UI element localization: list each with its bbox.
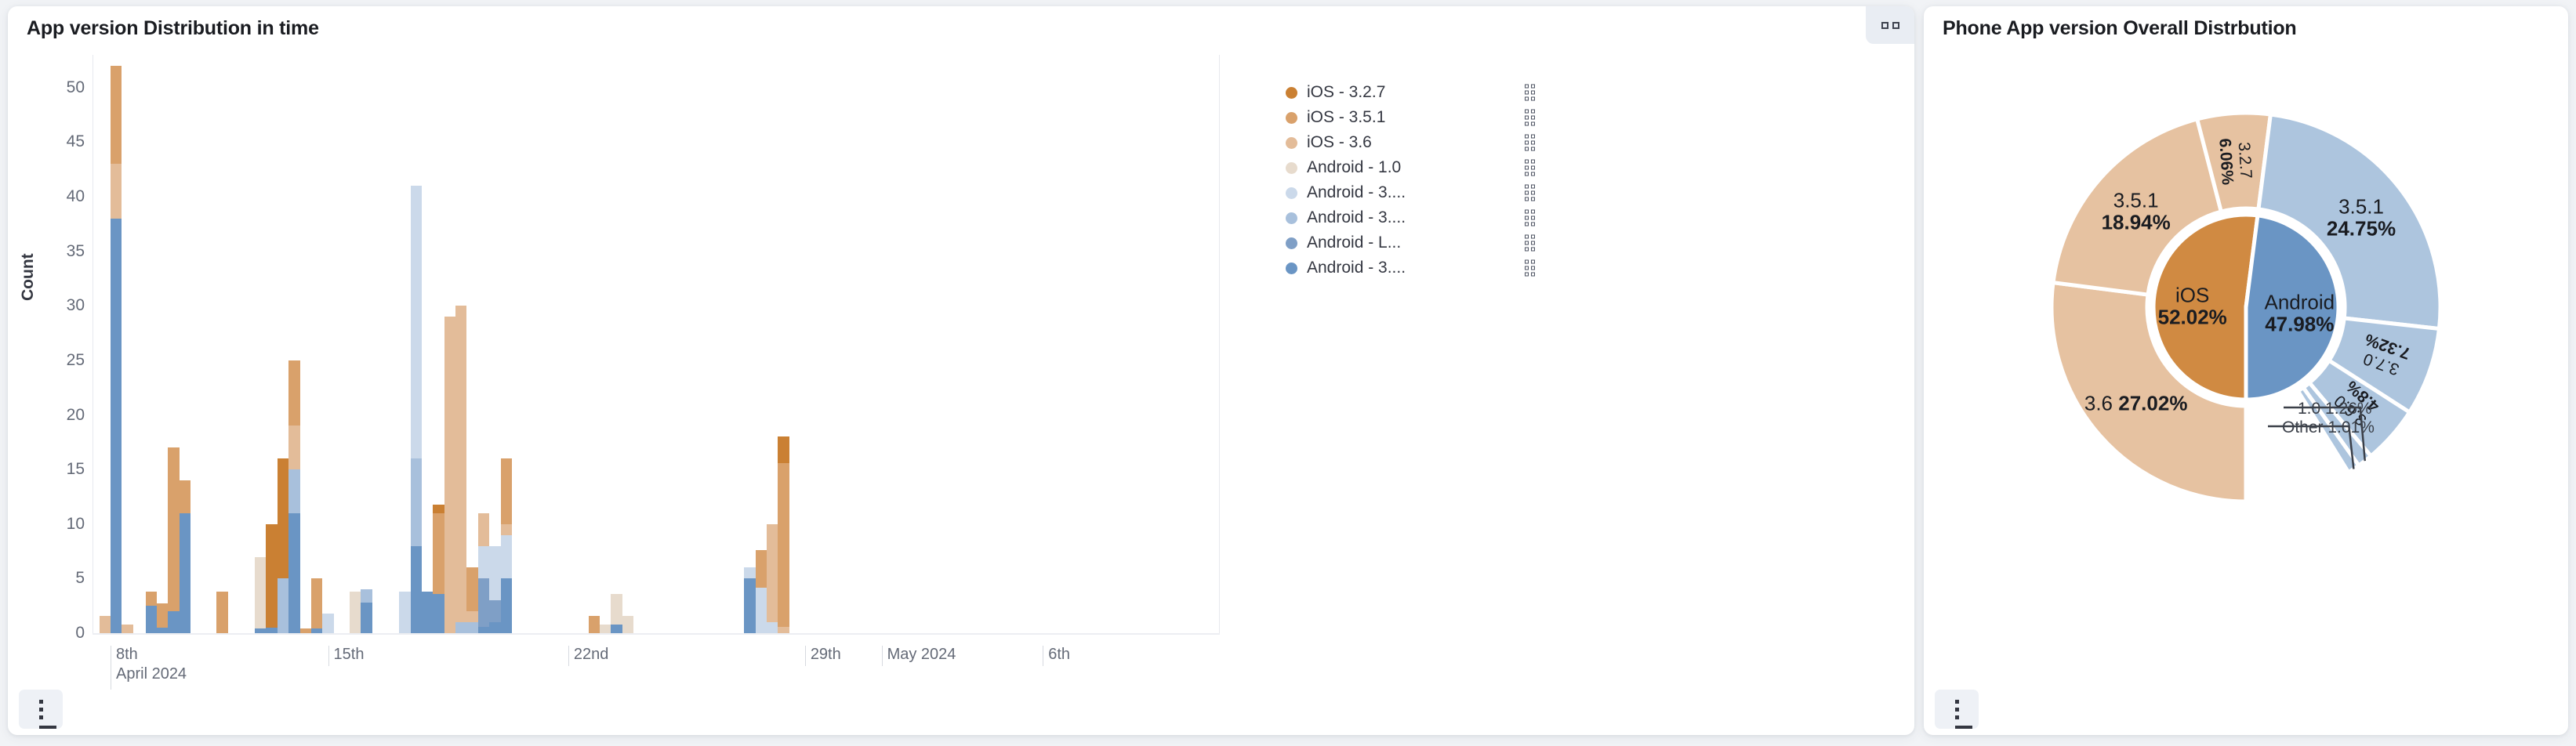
- legend-color-dot: [1286, 237, 1297, 249]
- x-tick-sub: April 2024: [116, 665, 187, 683]
- legend-item-label: Android - 3....: [1307, 183, 1406, 202]
- y-axis-tick-label: 50: [67, 78, 85, 97]
- bar-stack[interactable]: [756, 550, 767, 633]
- bar-stack[interactable]: [501, 458, 512, 633]
- bar-stack[interactable]: [216, 592, 227, 633]
- y-axis-tick-label: 15: [67, 460, 85, 479]
- bar-stack[interactable]: [157, 603, 168, 633]
- panel-overall-distribution: Phone App version Overall Distrbution iO…: [1924, 6, 2568, 735]
- bar-stack[interactable]: [180, 480, 190, 633]
- bar-series-container: [93, 55, 1220, 633]
- callout-label: 1.0 1.26%: [2298, 400, 2372, 418]
- bar-segment[interactable]: [411, 458, 422, 545]
- legend-color-dot: [1286, 112, 1297, 124]
- bar-segment[interactable]: [255, 628, 266, 633]
- bar-segment[interactable]: [422, 592, 433, 633]
- donut-slice-value: 18.94%: [2102, 210, 2171, 234]
- bar-stack[interactable]: [767, 524, 778, 633]
- legend-item[interactable]: Android - 3....: [1286, 205, 1474, 230]
- sunburst-rings: iOS52.02%Android47.98%3.6 27.02%3.5.118.…: [2052, 113, 2440, 502]
- bar-stack[interactable]: [255, 557, 266, 633]
- y-axis-tick-label: 30: [67, 296, 85, 315]
- bar-segment[interactable]: [756, 550, 767, 587]
- bar-segment[interactable]: [111, 164, 122, 219]
- bar-segment[interactable]: [501, 578, 512, 633]
- bar-segment[interactable]: [744, 578, 755, 633]
- bar-segment[interactable]: [433, 513, 444, 594]
- x-axis-tick-label: 22nd: [568, 646, 609, 666]
- bar-segment[interactable]: [611, 594, 622, 625]
- bar-segment[interactable]: [311, 578, 322, 628]
- x-axis-tick-label: 15th: [328, 646, 365, 666]
- legend-item[interactable]: iOS - 3.2.7: [1286, 80, 1474, 105]
- bar-segment[interactable]: [322, 614, 333, 633]
- bar-segment[interactable]: [433, 594, 444, 633]
- bar-stack[interactable]: [168, 447, 179, 633]
- callout-label: Other 1.01%: [2282, 418, 2375, 436]
- bar-stack[interactable]: [300, 628, 311, 633]
- panel-menu-button[interactable]: [1866, 6, 1914, 44]
- bar-segment[interactable]: [466, 622, 477, 633]
- drag-grip-icon[interactable]: [1525, 160, 1535, 176]
- bar-segment[interactable]: [411, 546, 422, 633]
- x-axis-tick-label: 29th: [805, 646, 841, 666]
- donut-slice-value: 27.02%: [2118, 392, 2187, 415]
- bar-segment[interactable]: [466, 567, 477, 611]
- drag-grip-icon[interactable]: [1525, 185, 1535, 201]
- bar-segment[interactable]: [100, 616, 111, 633]
- bar-segment[interactable]: [111, 66, 122, 164]
- bar-stack[interactable]: [478, 513, 489, 633]
- chart-legend: iOS - 3.2.7iOS - 3.5.1iOS - 3.6Android -…: [1286, 80, 1474, 281]
- drag-grip-icon[interactable]: [1525, 260, 1535, 277]
- legend-item[interactable]: iOS - 3.5.1: [1286, 105, 1474, 130]
- bar-segment[interactable]: [455, 306, 466, 622]
- bar-segment[interactable]: [778, 627, 789, 633]
- bar-stack[interactable]: [111, 66, 122, 633]
- bar-stack[interactable]: [422, 592, 433, 633]
- x-axis-tick-label: May 2024: [882, 646, 956, 666]
- bar-stack[interactable]: [266, 524, 277, 633]
- bar-segment[interactable]: [278, 458, 288, 578]
- bar-stack[interactable]: [288, 360, 299, 633]
- legend-color-dot: [1286, 187, 1297, 199]
- bar-segment[interactable]: [168, 611, 179, 633]
- legend-item[interactable]: Android - 1.0: [1286, 155, 1474, 180]
- bar-stack[interactable]: [589, 616, 600, 633]
- bar-stack[interactable]: [350, 592, 361, 633]
- list-view-icon: [1955, 700, 1959, 719]
- legend-color-dot: [1286, 87, 1297, 99]
- bar-segment[interactable]: [411, 186, 422, 458]
- legend-toggle-button[interactable]: [1935, 690, 1979, 729]
- bar-segment[interactable]: [489, 600, 500, 622]
- bar-segment[interactable]: [589, 616, 600, 633]
- drag-grip-icon[interactable]: [1525, 235, 1535, 252]
- bar-segment[interactable]: [756, 588, 767, 633]
- y-axis-tick-label: 5: [75, 569, 85, 588]
- bar-stack[interactable]: [444, 317, 455, 633]
- bar-segment[interactable]: [455, 622, 466, 633]
- bar-stack[interactable]: [433, 505, 444, 633]
- x-axis-title: @timestamp per 12 hours: [93, 732, 1220, 735]
- bar-segment[interactable]: [501, 535, 512, 579]
- bar-segment[interactable]: [433, 505, 444, 513]
- page-title: App version Distribution in time: [8, 6, 1914, 40]
- y-axis-tick-label: 45: [67, 132, 85, 151]
- donut-slice-label: 3.2.7: [2235, 142, 2255, 179]
- bar-segment[interactable]: [501, 524, 512, 535]
- bar-segment[interactable]: [157, 628, 168, 633]
- bar-stack[interactable]: [600, 625, 611, 633]
- bar-segment[interactable]: [122, 625, 132, 633]
- bar-segment[interactable]: [278, 578, 288, 633]
- legend-item-label: Android - 1.0: [1307, 158, 1401, 177]
- legend-toggle-button[interactable]: [19, 690, 63, 729]
- x-tick-main: 8th: [116, 646, 138, 663]
- bar-chart: Count 05101520253035404550 8thApril 2024…: [8, 42, 1914, 693]
- bar-stack[interactable]: [744, 567, 755, 633]
- y-axis-tick-label: 10: [67, 515, 85, 534]
- bar-segment[interactable]: [444, 317, 455, 633]
- bar-segment[interactable]: [466, 611, 477, 622]
- bar-segment[interactable]: [744, 567, 755, 578]
- donut-slice-label: 3.5.1: [2338, 194, 2384, 218]
- y-axis-title: Count: [19, 253, 38, 301]
- dashboard-page: App version Distribution in time Count 0…: [0, 0, 2576, 746]
- x-axis-ticks: 8thApril 202415th22nd29thMay 20246th: [93, 646, 1220, 693]
- bar-segment[interactable]: [146, 592, 157, 606]
- legend-item-label: iOS - 3.5.1: [1307, 108, 1385, 127]
- drag-grip-icon[interactable]: [1525, 110, 1535, 126]
- bar-segment[interactable]: [168, 447, 179, 611]
- sunburst-svg: iOS52.02%Android47.98%3.6 27.02%3.5.118.…: [1956, 49, 2536, 675]
- legend-item[interactable]: iOS - 3.6: [1286, 130, 1474, 155]
- bar-stack[interactable]: [100, 616, 111, 633]
- bar-segment[interactable]: [478, 513, 489, 546]
- donut-slice-label: 3.5.1: [2113, 188, 2159, 212]
- bar-stack[interactable]: [622, 616, 633, 633]
- bar-segment[interactable]: [778, 436, 789, 462]
- legend-item[interactable]: Android - L...: [1286, 230, 1474, 255]
- bar-segment[interactable]: [767, 622, 778, 633]
- bar-segment[interactable]: [111, 219, 122, 633]
- legend-item-label: iOS - 3.2.7: [1307, 83, 1385, 102]
- bar-segment[interactable]: [399, 592, 410, 633]
- bar-segment[interactable]: [157, 603, 168, 628]
- bar-segment[interactable]: [266, 628, 277, 633]
- legend-item-label: Android - 3....: [1307, 208, 1406, 227]
- y-axis-tick-label: 0: [75, 624, 85, 643]
- legend-color-dot: [1286, 162, 1297, 174]
- y-axis-tick-label: 20: [67, 406, 85, 425]
- bar-stack[interactable]: [411, 186, 422, 633]
- donut-slice-value: 52.02%: [2158, 306, 2227, 329]
- donut-slice-label: Android: [2264, 290, 2335, 313]
- drag-grip-icon[interactable]: [1525, 135, 1535, 151]
- bar-segment[interactable]: [255, 557, 266, 629]
- bar-segment[interactable]: [266, 524, 277, 628]
- grid-menu-icon: [1881, 22, 1888, 29]
- bar-segment[interactable]: [350, 592, 361, 633]
- donut-slice-value: 6.06%: [2215, 138, 2237, 186]
- bar-stack[interactable]: [489, 546, 500, 633]
- donut-slice-value: 24.75%: [2327, 216, 2396, 240]
- bar-segment[interactable]: [622, 616, 633, 633]
- legend-item[interactable]: Android - 3....: [1286, 180, 1474, 205]
- plot-area: 05101520253035404550: [93, 55, 1220, 635]
- bar-segment[interactable]: [767, 524, 778, 622]
- bar-segment[interactable]: [300, 628, 311, 633]
- donut-chart: iOS52.02%Android47.98%3.6 27.02%3.5.118.…: [1924, 42, 2568, 693]
- x-axis-tick-label: 8thApril 2024: [111, 646, 187, 690]
- bar-segment[interactable]: [288, 513, 299, 633]
- bar-segment[interactable]: [180, 513, 190, 633]
- bar-stack[interactable]: [322, 614, 333, 633]
- bar-segment[interactable]: [489, 546, 500, 601]
- bar-segment[interactable]: [146, 606, 157, 633]
- panel-app-version-distribution: App version Distribution in time Count 0…: [8, 6, 1914, 735]
- bar-segment[interactable]: [311, 628, 322, 633]
- bar-stack[interactable]: [122, 625, 132, 633]
- x-axis-tick-label: 6th: [1043, 646, 1070, 666]
- bar-stack[interactable]: [778, 436, 789, 633]
- bar-segment[interactable]: [180, 480, 190, 513]
- bar-segment[interactable]: [288, 469, 299, 513]
- legend-item-label: Android - L...: [1307, 234, 1401, 252]
- legend-item-label: iOS - 3.6: [1307, 133, 1372, 152]
- bar-segment[interactable]: [288, 360, 299, 426]
- page-title: Phone App version Overall Distrbution: [1924, 6, 2568, 40]
- bar-segment[interactable]: [778, 463, 789, 627]
- legend-color-dot: [1286, 263, 1297, 274]
- donut-outer-label: 3.6 27.02%: [2084, 392, 2188, 415]
- bar-stack[interactable]: [466, 567, 477, 633]
- bar-segment[interactable]: [288, 426, 299, 469]
- bar-stack[interactable]: [311, 578, 322, 633]
- bar-segment[interactable]: [361, 589, 372, 603]
- y-axis-tick-label: 25: [67, 351, 85, 370]
- bar-segment[interactable]: [611, 625, 622, 633]
- bar-segment[interactable]: [478, 578, 489, 626]
- legend-color-dot: [1286, 137, 1297, 149]
- bar-stack[interactable]: [455, 306, 466, 633]
- legend-item[interactable]: Android - 3....: [1286, 255, 1474, 281]
- donut-outer-label: 3.2.76.06%: [2215, 136, 2255, 186]
- drag-grip-icon[interactable]: [1525, 85, 1535, 101]
- bar-segment[interactable]: [478, 546, 489, 579]
- y-axis-tick-label: 35: [67, 242, 85, 261]
- bar-segment[interactable]: [478, 627, 489, 633]
- bar-segment[interactable]: [361, 603, 372, 633]
- donut-slice-label: 3.6: [2084, 392, 2118, 415]
- bar-stack[interactable]: [399, 592, 410, 633]
- list-view-icon: [39, 700, 43, 719]
- bar-segment[interactable]: [216, 592, 227, 633]
- donut-slice-label: iOS: [2175, 284, 2209, 307]
- bar-stack[interactable]: [611, 594, 622, 633]
- bar-stack[interactable]: [146, 592, 157, 633]
- legend-color-dot: [1286, 212, 1297, 224]
- donut-slice-value: 47.98%: [2265, 312, 2334, 335]
- bar-stack[interactable]: [278, 458, 288, 633]
- bar-segment[interactable]: [489, 622, 500, 633]
- bar-stack[interactable]: [361, 589, 372, 633]
- grid-menu-icon: [1892, 22, 1899, 29]
- drag-grip-icon[interactable]: [1525, 210, 1535, 226]
- bar-segment[interactable]: [501, 458, 512, 524]
- y-axis-tick-label: 40: [67, 187, 85, 206]
- legend-item-label: Android - 3....: [1307, 259, 1406, 277]
- bar-segment[interactable]: [600, 625, 611, 633]
